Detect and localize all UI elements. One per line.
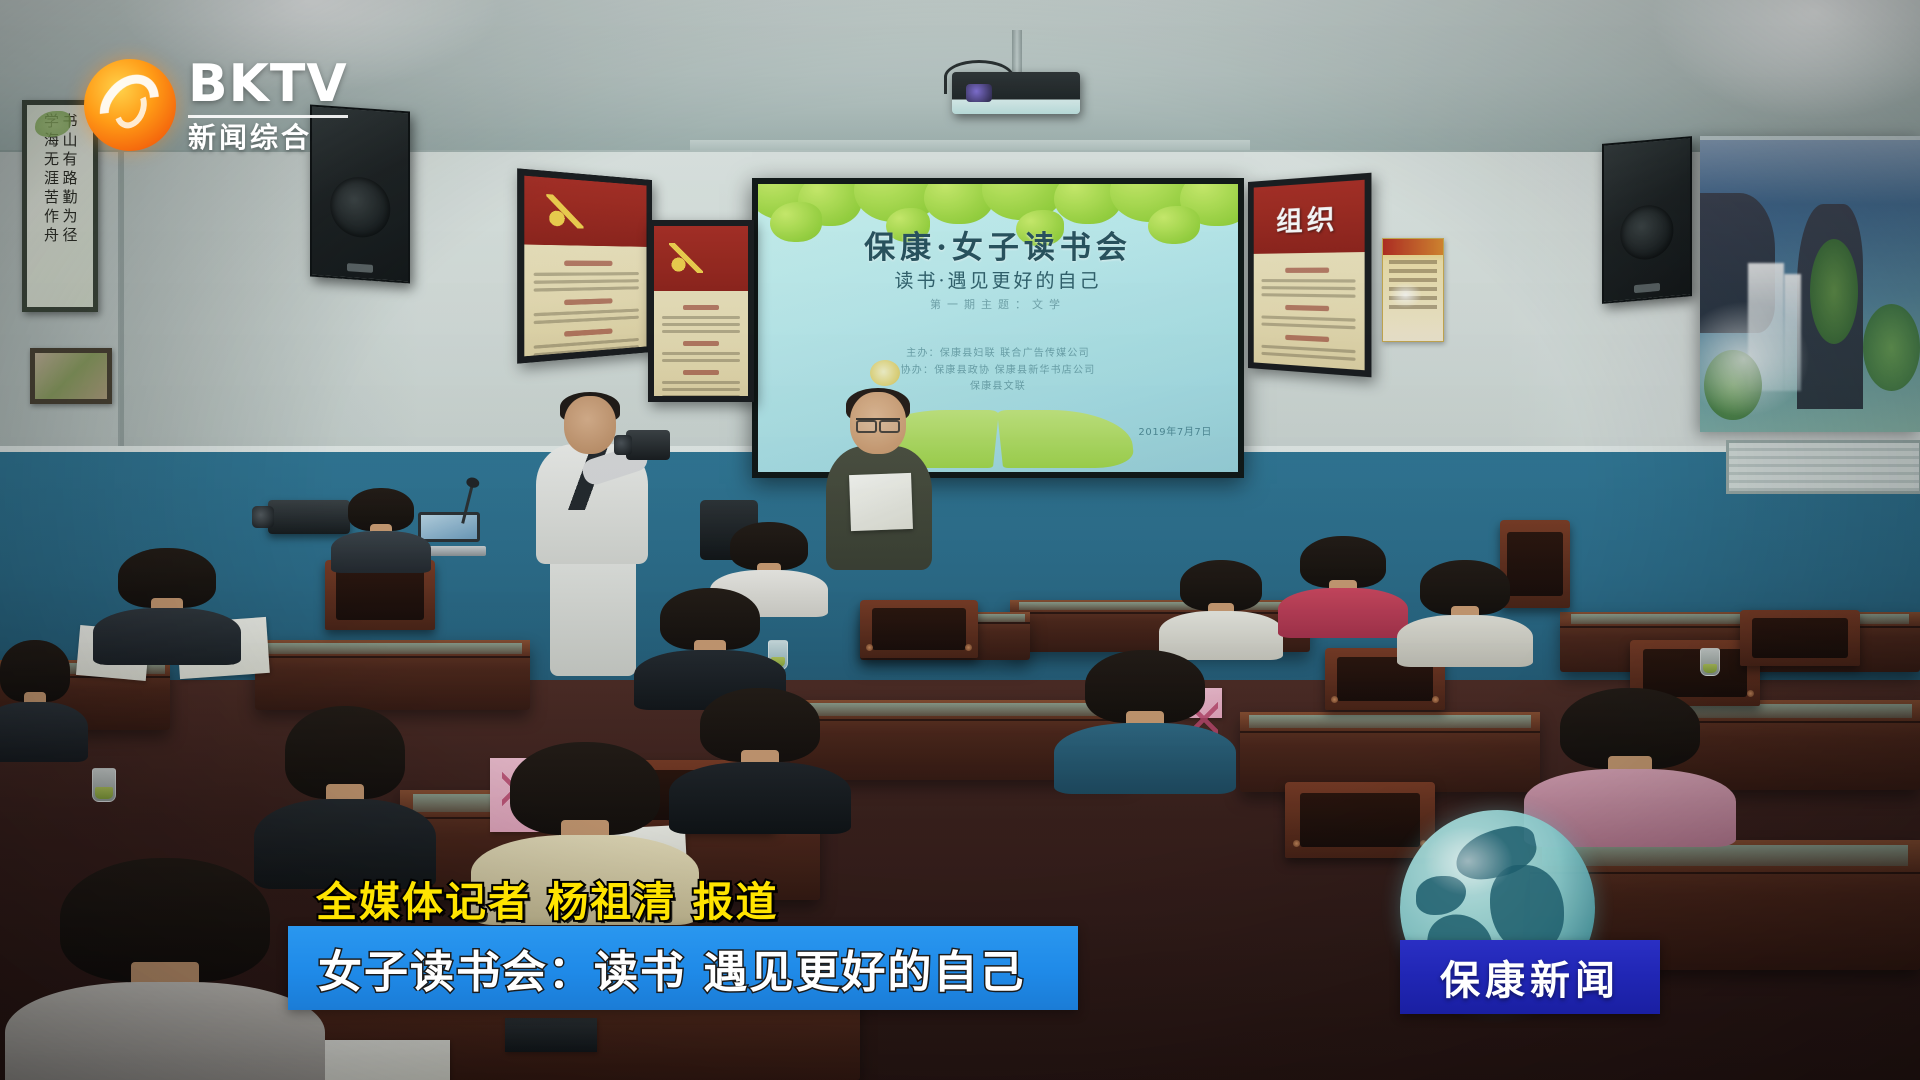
wall-board-party-left: [517, 168, 652, 363]
program-name-bar: 保康新闻: [1400, 940, 1660, 1014]
screen-date: 2019年7月7日: [1138, 423, 1212, 438]
speaker-badge: [347, 263, 373, 273]
headline-text: 女子读书会：读书 遇见更好的自己: [318, 936, 1025, 1000]
audience-member: [0, 640, 70, 740]
waterfall-mural: [1700, 136, 1920, 432]
framed-picture-small: [30, 348, 112, 404]
photo-camera: [626, 430, 670, 460]
chair: [860, 600, 978, 658]
audience-member: [1180, 560, 1262, 642]
screen-session-line: 第一期主题：文学: [758, 296, 1238, 312]
phoenix-flame-icon: [84, 59, 176, 151]
program-badge: 保康新闻: [1400, 800, 1820, 1030]
window-blind: [1726, 440, 1920, 494]
audience-member-foreground: [60, 858, 270, 1058]
screen-subtitle: 读书·遇见更好的自己: [758, 266, 1238, 293]
wall-board-organization-right: 组织: [1248, 173, 1371, 378]
channel-callsign: BKTV: [188, 58, 348, 110]
audience-member: [285, 706, 405, 856]
audience-member: [660, 588, 760, 688]
chair: [1740, 610, 1860, 666]
presenter-script-paper: [849, 473, 913, 531]
headline-bar: 女子读书会：读书 遇见更好的自己: [288, 926, 1078, 1010]
speaker-cone: [1620, 203, 1673, 261]
ceiling-projector: [952, 72, 1080, 114]
audience-member: [1560, 688, 1700, 818]
logo-divider: [188, 115, 348, 118]
hammer-sickle-emblem: [669, 243, 703, 273]
channel-logo: BKTV 新闻综合: [84, 50, 364, 160]
drinking-cup: [1700, 648, 1720, 676]
projector-lens: [966, 84, 992, 102]
tablet-device: [505, 1018, 597, 1052]
speaker-badge: [1634, 283, 1660, 293]
audience-member: [700, 688, 820, 808]
drinking-cup: [92, 768, 116, 802]
audience-member: [1420, 560, 1510, 648]
wall-board-title: 组织: [1276, 197, 1339, 239]
speaker-cone: [330, 176, 390, 240]
photographer-head: [564, 396, 616, 454]
channel-name: 新闻综合: [188, 124, 348, 152]
ceiling-light-right: [1650, 0, 1920, 120]
photographer: [520, 396, 666, 676]
audience-member: [348, 488, 414, 558]
screen-organizer-lines: 主办：保康县妇联 联合广告传媒公司 协办：保康县政协 保康县新华书店公司 保康县…: [758, 346, 1238, 396]
wall-notice-poster: [1382, 238, 1444, 342]
audience-member: [1085, 650, 1205, 768]
reporter-credit: 全媒体记者 杨祖清 报道: [316, 868, 779, 928]
desk-row-mid: [255, 640, 530, 710]
presenter-speaker: [820, 392, 938, 570]
hammer-sickle-emblem: [546, 194, 583, 229]
wall-board-party-center: [648, 220, 754, 402]
presenter-glasses: [856, 418, 900, 427]
video-camera-on-tripod: [268, 500, 350, 534]
audience-member: [118, 548, 216, 644]
program-name: 保康新闻: [1440, 948, 1620, 1006]
desk-row-mid: [1240, 712, 1540, 792]
wall-speaker-right: [1602, 136, 1692, 304]
broadcast-frame: 学海无涯苦作舟 书山有路勤为径: [0, 0, 1920, 1080]
chair: [1500, 520, 1570, 608]
screen-title: 保康·女子读书会: [758, 222, 1238, 267]
audience-member: [1300, 536, 1386, 620]
